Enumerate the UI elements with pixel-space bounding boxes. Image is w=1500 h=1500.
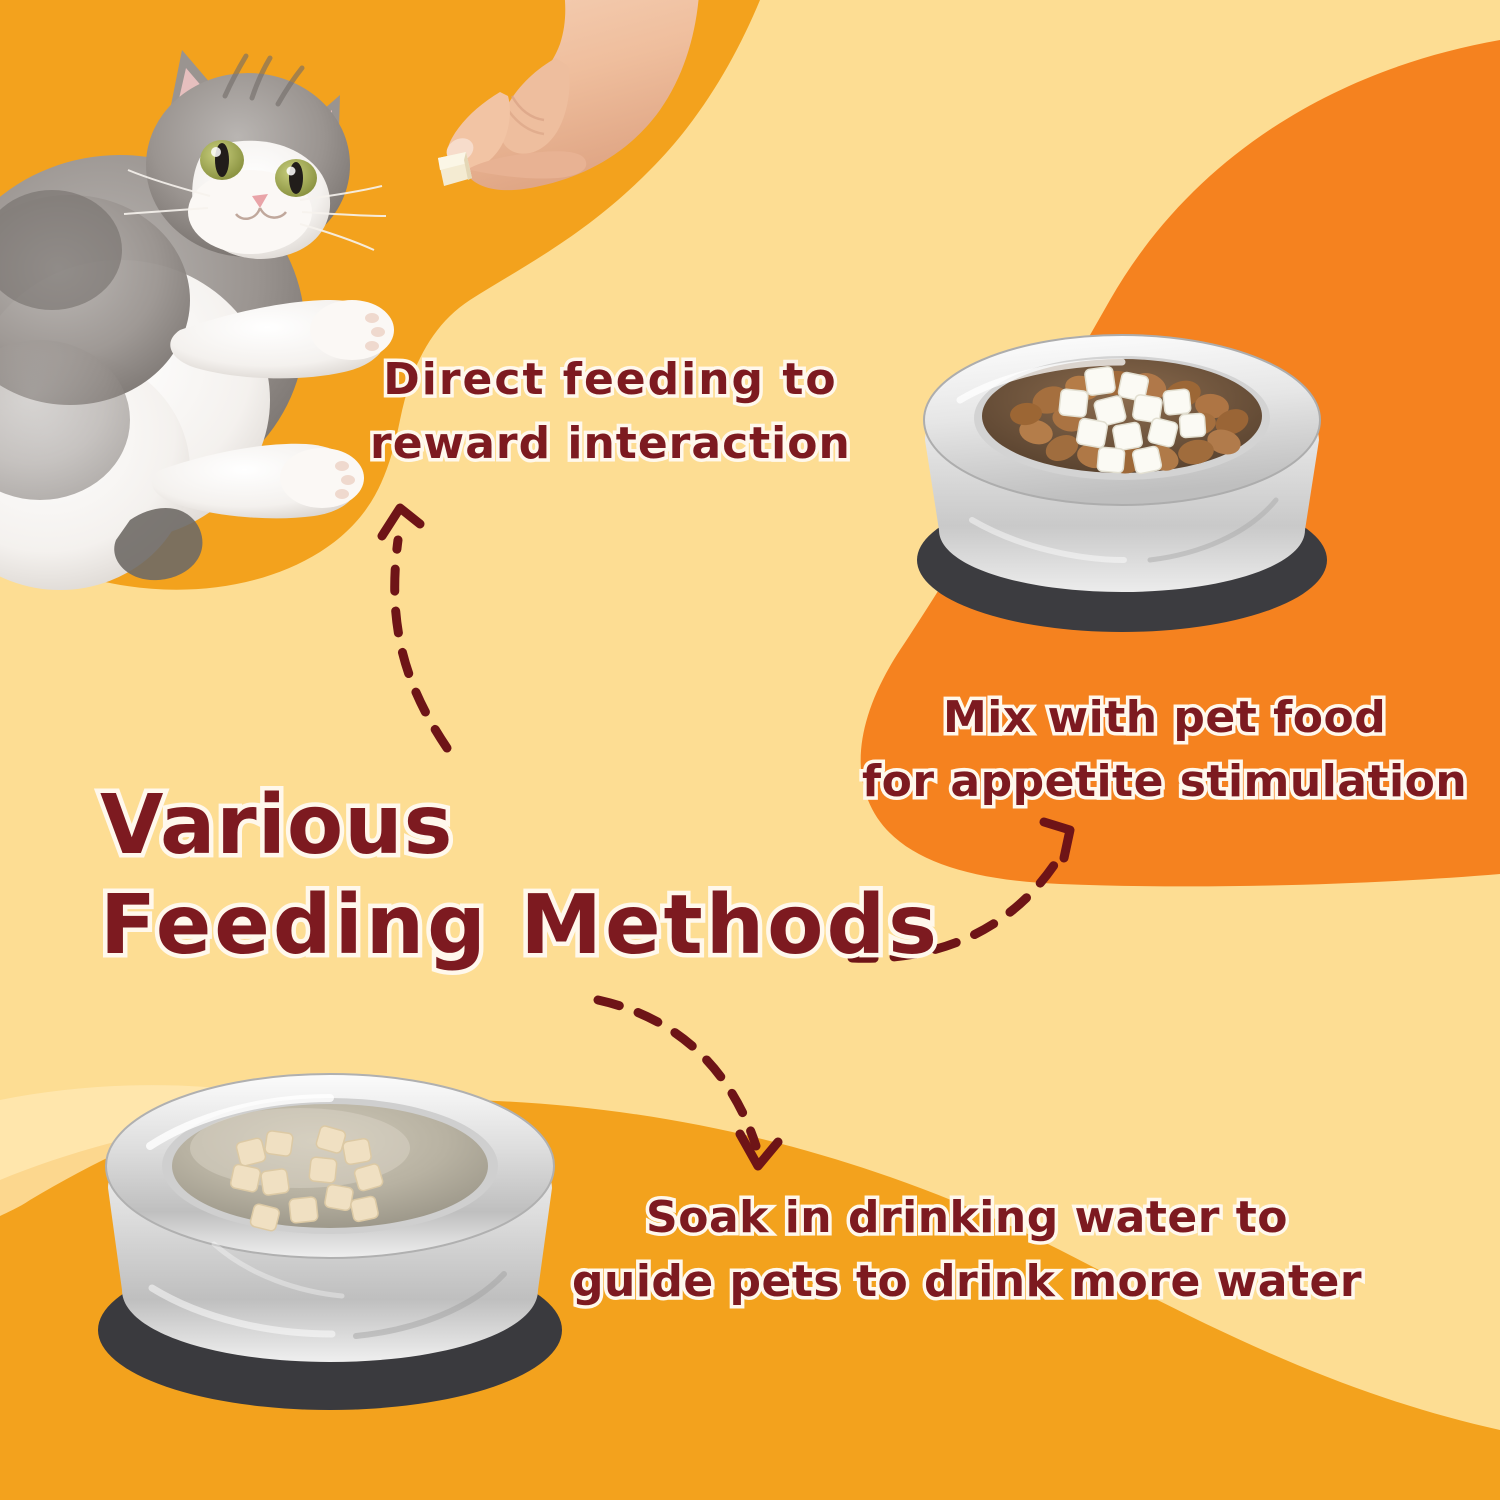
- arrowhead-direct: [382, 508, 420, 536]
- water-bowl: [98, 1074, 562, 1410]
- bottom-left-cream-sweep: [0, 1085, 280, 1216]
- arrow-path-soak: [598, 1000, 756, 1146]
- kibble-pile: [1009, 368, 1252, 478]
- caption-mix-line1: Mix with pet food: [862, 686, 1467, 750]
- page-title-line2: Feeding Methods: [100, 876, 940, 976]
- top-left-orange-blob: [0, 0, 760, 590]
- caption-soak-in-water: Soak in drinking water to guide pets to …: [572, 1186, 1362, 1314]
- freeze-dried-cubes: [1059, 366, 1206, 474]
- bowl-rubber-base: [917, 488, 1327, 632]
- caption-direct-feeding: Direct feeding to reward interaction: [370, 348, 851, 476]
- page-title: Various Feeding Methods: [100, 776, 940, 976]
- arrowhead-soak: [740, 1134, 778, 1166]
- soaked-treat-cubes: [230, 1125, 384, 1232]
- hand-back: [462, 0, 700, 190]
- bowl-body: [925, 372, 1319, 592]
- caption-direct-line2: reward interaction: [370, 412, 851, 476]
- water-bowl-rubber-base: [98, 1250, 562, 1410]
- cat-paw-upper: [170, 300, 394, 378]
- cat-paw-lower: [152, 444, 364, 519]
- water-bowl-inner-rim: [162, 1098, 498, 1234]
- cat-hind: [114, 508, 202, 580]
- caption-soak-line1: Soak in drinking water to: [572, 1186, 1362, 1250]
- bowl-outer-rim: [924, 335, 1320, 505]
- arrowhead-mix: [1044, 822, 1070, 858]
- treat-cube: [438, 152, 472, 186]
- food-bowl: [917, 335, 1327, 632]
- infographic-poster: Direct feeding to reward interaction Mix…: [0, 0, 1500, 1500]
- arrow-path-direct: [395, 540, 447, 748]
- cat-eye-left: [200, 140, 244, 180]
- cat-body: [0, 155, 305, 505]
- water-bowl-outer-rim: [106, 1074, 554, 1258]
- caption-direct-line1: Direct feeding to: [370, 348, 851, 412]
- page-title-line1: Various: [100, 776, 940, 876]
- cat-chest: [0, 260, 270, 540]
- hand-index-finger: [500, 58, 570, 154]
- caption-mix-with-food: Mix with pet food for appetite stimulati…: [862, 686, 1467, 814]
- cat-nose: [252, 194, 268, 208]
- bowl-inner-rim: [974, 356, 1270, 480]
- bowl-water: [172, 1104, 488, 1228]
- caption-soak-line2: guide pets to drink more water: [572, 1250, 1362, 1314]
- water-bowl-body: [108, 1112, 552, 1362]
- cat-head: [124, 50, 386, 259]
- thumbnail: [442, 134, 477, 167]
- caption-mix-line2: for appetite stimulation: [862, 750, 1467, 814]
- hand-thumb: [447, 92, 510, 171]
- hand-lower-finger: [470, 151, 586, 178]
- cat-eye-right: [275, 159, 317, 197]
